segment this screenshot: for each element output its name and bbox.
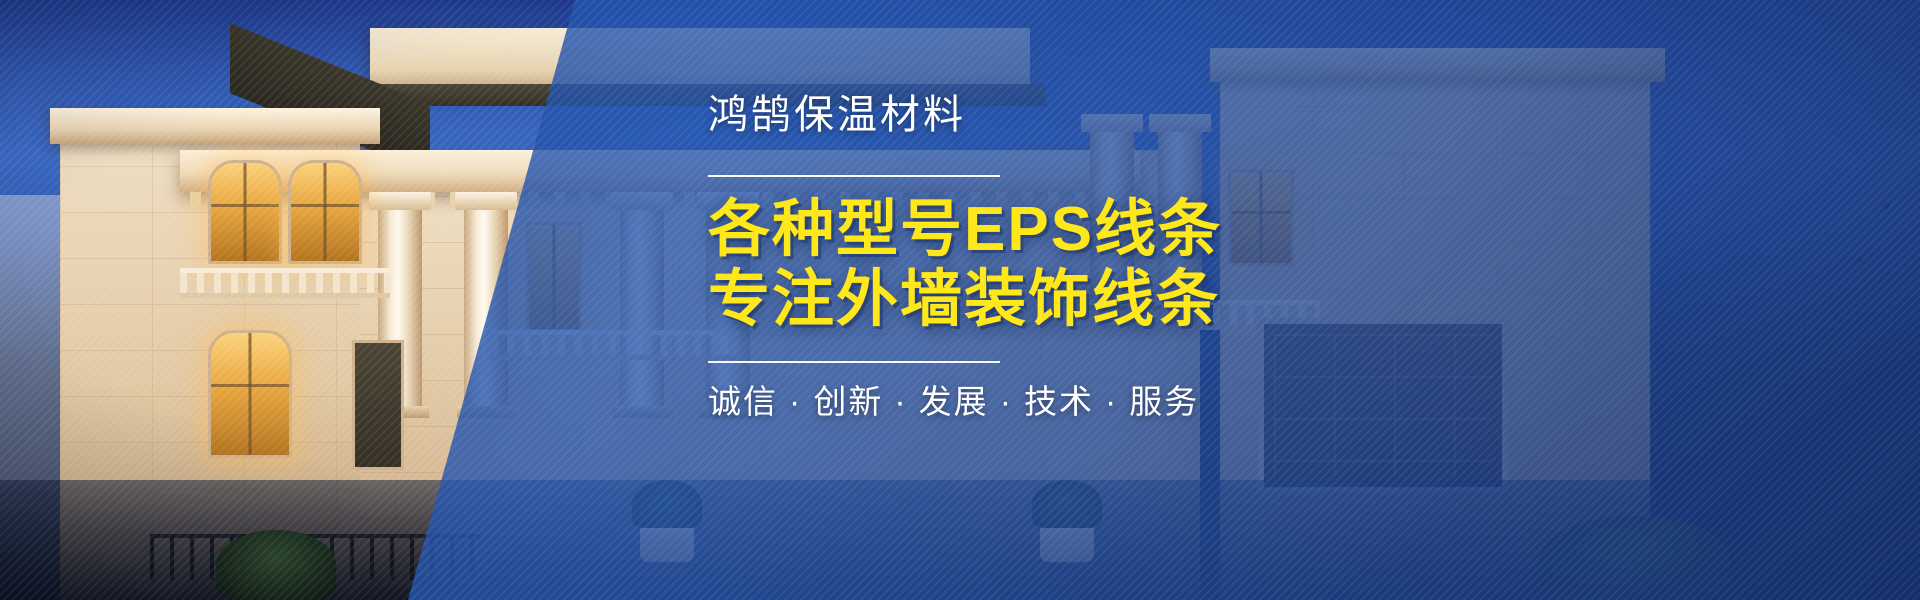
window-mullion [324, 163, 327, 261]
brand-name: 鸿鹄保温材料 [708, 95, 1408, 135]
window-upper [288, 160, 362, 264]
window-mullion [211, 384, 289, 387]
headline-line-1: 各种型号EPS线条 [708, 195, 1408, 265]
tagline: 诚信 · 创新 · 发展 · 技术 · 服务 [708, 385, 1408, 418]
window-mullion [291, 204, 359, 207]
window-mullion [244, 163, 247, 261]
divider-top [708, 175, 1000, 177]
headline: 各种型号EPS线条 专注外墙装饰线条 [708, 195, 1408, 335]
promo-banner: 鸿鹄保温材料 各种型号EPS线条 专注外墙装饰线条 诚信 · 创新 · 发展 ·… [0, 0, 1920, 600]
shrub [216, 530, 336, 600]
headline-line-2: 专注外墙装饰线条 [708, 265, 1408, 335]
window-mullion [211, 204, 279, 207]
cornice-left [50, 108, 380, 144]
window-mullion [249, 333, 252, 455]
window-upper [208, 160, 282, 264]
banner-copy: 鸿鹄保温材料 各种型号EPS线条 专注外墙装饰线条 诚信 · 创新 · 发展 ·… [708, 95, 1408, 418]
window-lower [208, 330, 292, 458]
balustrade-upper [180, 268, 390, 298]
window-lower-dark [352, 340, 404, 470]
divider-bottom [708, 361, 1000, 363]
